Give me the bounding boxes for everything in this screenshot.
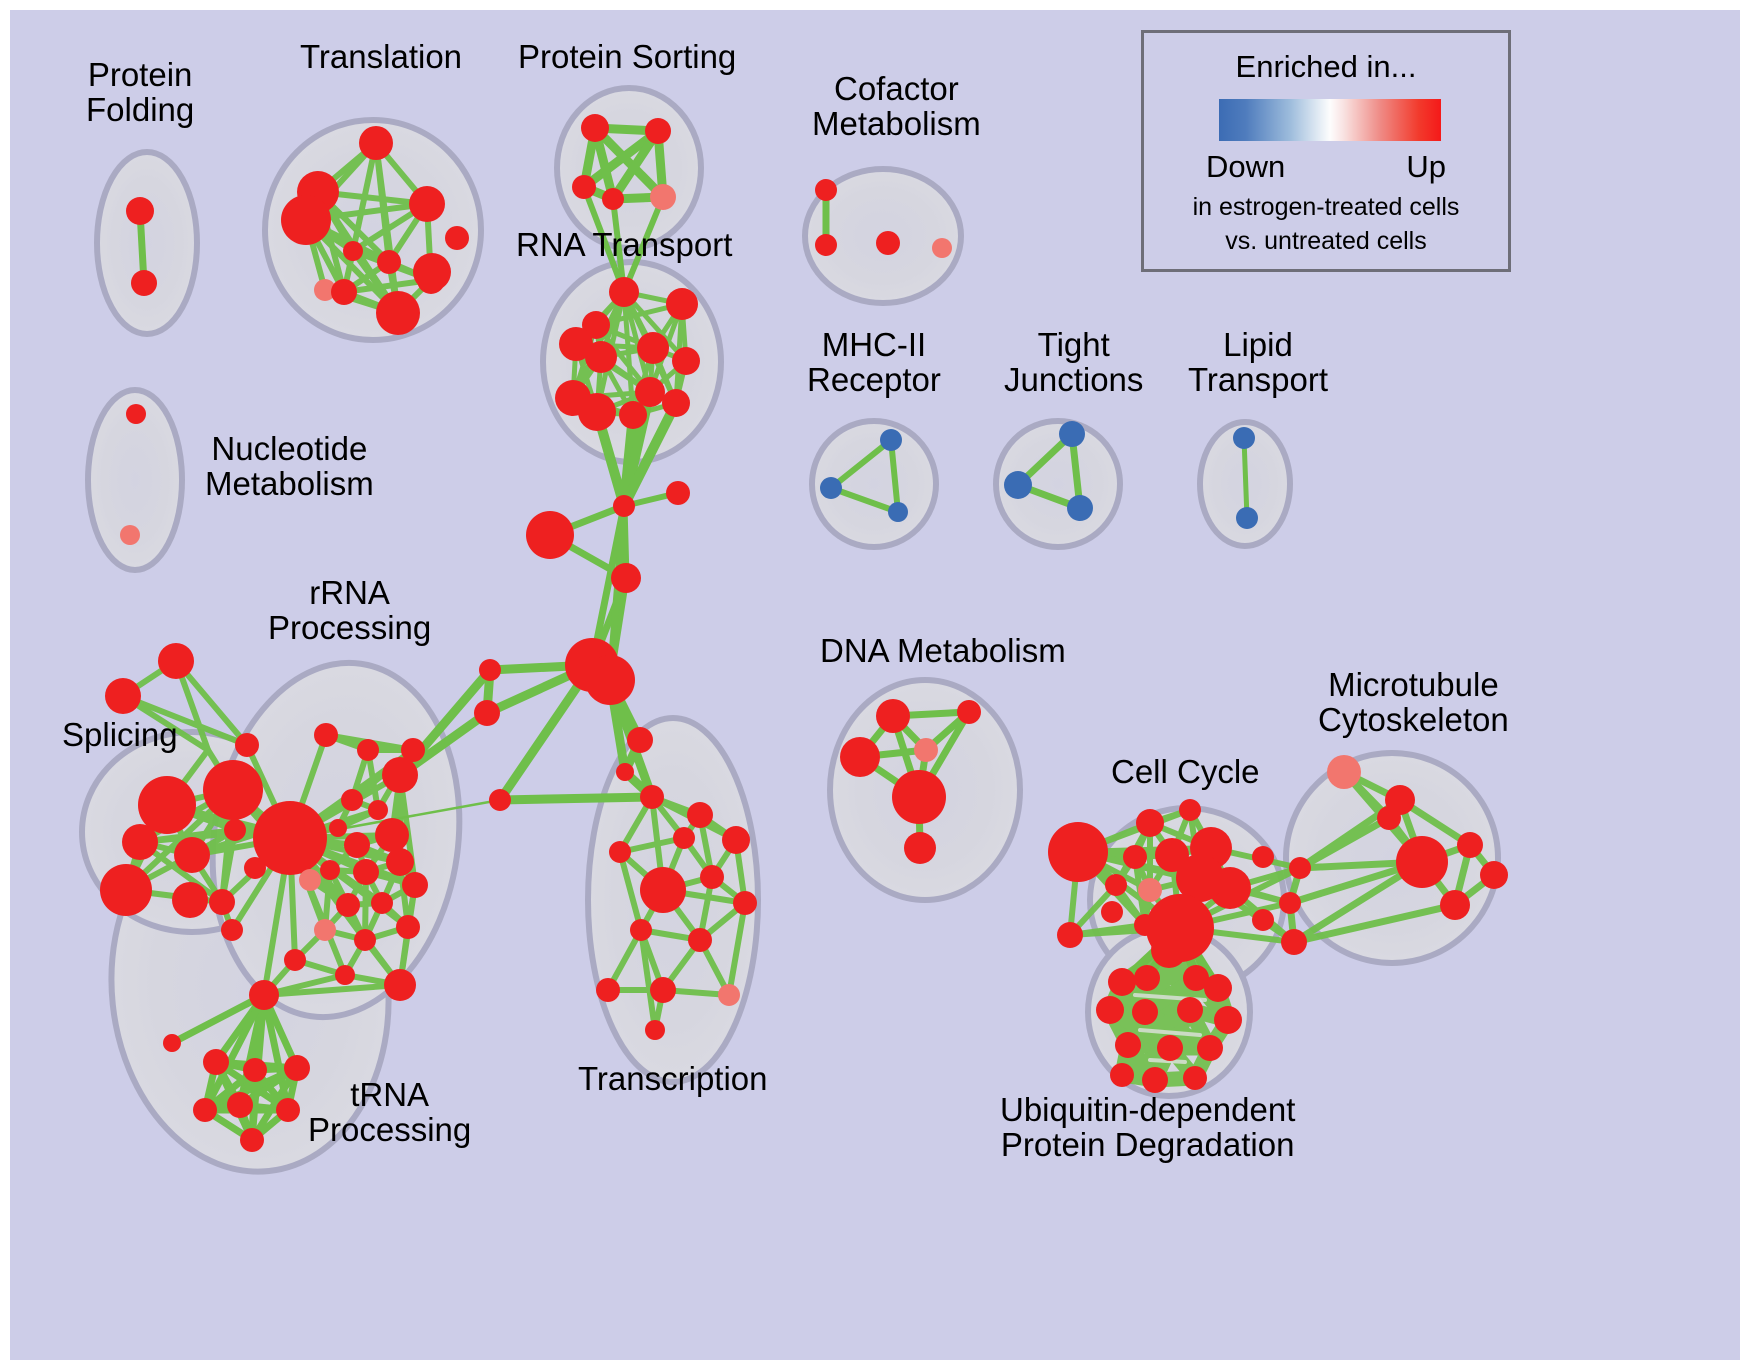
node	[619, 401, 647, 429]
label-dna-metabolism: DNA Metabolism	[820, 634, 1066, 669]
node	[314, 919, 336, 941]
node	[209, 889, 235, 915]
node	[687, 802, 713, 828]
node	[1327, 755, 1361, 789]
node	[1214, 1006, 1242, 1034]
node	[572, 175, 596, 199]
node	[1281, 929, 1307, 955]
node	[353, 859, 379, 885]
node	[376, 291, 420, 335]
node	[609, 841, 631, 863]
node	[203, 760, 263, 820]
node	[666, 288, 698, 320]
node	[1179, 799, 1201, 821]
node	[1067, 495, 1093, 521]
node	[627, 727, 653, 753]
label-lipid-transport: Lipid Transport	[1188, 328, 1328, 398]
node	[645, 118, 671, 144]
label-protein-folding: Protein Folding	[86, 58, 194, 128]
node	[613, 495, 635, 517]
node	[1136, 809, 1164, 837]
node	[126, 404, 146, 424]
node	[371, 892, 393, 914]
node	[1105, 874, 1127, 896]
node	[221, 919, 243, 941]
node	[596, 978, 620, 1002]
node	[122, 824, 158, 860]
node	[1096, 996, 1124, 1024]
node	[299, 869, 321, 891]
node	[932, 238, 952, 258]
legend-title: Enriched in...	[1144, 49, 1508, 85]
node	[581, 114, 609, 142]
node	[880, 429, 902, 451]
node	[253, 801, 327, 875]
node	[602, 188, 624, 210]
node	[526, 511, 574, 559]
node	[343, 241, 363, 261]
node	[650, 184, 676, 210]
node	[888, 502, 908, 522]
node	[341, 789, 363, 811]
node	[1004, 471, 1032, 499]
node	[1197, 1035, 1223, 1061]
node	[1057, 922, 1083, 948]
node	[336, 893, 360, 917]
node	[616, 763, 634, 781]
node	[718, 984, 740, 1006]
node	[1123, 845, 1147, 869]
node	[688, 928, 712, 952]
node	[1252, 846, 1274, 868]
node	[876, 699, 910, 733]
node	[344, 832, 370, 858]
node	[1480, 861, 1508, 889]
node	[320, 860, 340, 880]
node	[815, 179, 837, 201]
node	[1183, 1066, 1207, 1090]
label-transcription: Transcription	[578, 1062, 768, 1097]
node	[474, 700, 500, 726]
node	[904, 832, 936, 864]
node	[815, 234, 837, 256]
node	[193, 1098, 217, 1122]
node	[359, 126, 393, 160]
node	[489, 789, 511, 811]
node	[1204, 974, 1232, 1002]
node	[1289, 857, 1311, 879]
node	[276, 1098, 300, 1122]
node	[240, 1128, 264, 1152]
node	[1177, 997, 1203, 1023]
node	[672, 347, 700, 375]
label-nucleotide-metabolism: Nucleotide Metabolism	[205, 432, 374, 502]
node	[662, 389, 690, 417]
node	[1132, 999, 1158, 1025]
node	[1233, 427, 1255, 449]
node	[357, 739, 379, 761]
node	[402, 872, 428, 898]
node	[645, 1020, 665, 1040]
node	[1142, 1067, 1168, 1093]
legend-color-gradient-bar	[1219, 99, 1441, 141]
node	[479, 659, 501, 681]
label-rrna-processing: rRNA Processing	[268, 576, 431, 646]
node	[578, 393, 616, 431]
hull-protein-folding	[97, 152, 197, 334]
legend-high-label: Up	[1406, 149, 1446, 185]
label-tight-junctions: Tight Junctions	[1004, 328, 1143, 398]
node	[609, 277, 639, 307]
node	[382, 757, 418, 793]
node	[1457, 832, 1483, 858]
node	[892, 770, 946, 824]
label-protein-sorting: Protein Sorting	[518, 40, 736, 75]
label-translation: Translation	[300, 40, 462, 75]
node	[585, 655, 635, 705]
label-mhc-ii-receptor: MHC-II Receptor	[807, 328, 941, 398]
node	[396, 915, 420, 939]
legend-subtitle-line-2: vs. untreated cells	[1144, 227, 1508, 256]
node	[1110, 1063, 1134, 1087]
node	[1101, 901, 1123, 923]
node	[386, 848, 414, 876]
node	[722, 826, 750, 854]
node	[413, 253, 451, 291]
node	[640, 867, 686, 913]
node	[914, 738, 938, 762]
node	[876, 231, 900, 255]
node	[733, 891, 757, 915]
node	[100, 864, 152, 916]
label-splicing: Splicing	[62, 718, 178, 753]
node	[1236, 507, 1258, 529]
node	[700, 865, 724, 889]
node	[224, 819, 246, 841]
node	[335, 965, 355, 985]
node	[840, 737, 880, 777]
node	[666, 481, 690, 505]
label-cell-cycle: Cell Cycle	[1111, 755, 1260, 790]
node	[445, 226, 469, 250]
node	[249, 980, 279, 1010]
node	[331, 279, 357, 305]
node	[1108, 968, 1136, 996]
node	[409, 186, 445, 222]
node	[158, 643, 194, 679]
node	[243, 1058, 267, 1082]
node	[329, 819, 347, 837]
node	[1151, 932, 1187, 968]
node	[1115, 1032, 1141, 1058]
node	[640, 785, 664, 809]
figure-canvas: Protein Folding Translation Protein Sort…	[0, 0, 1750, 1360]
node	[1048, 822, 1108, 882]
node	[1059, 421, 1085, 447]
node	[637, 332, 669, 364]
node	[284, 1055, 310, 1081]
legend-box: Enriched in... Down Up in estrogen-treat…	[1141, 30, 1511, 272]
node	[820, 477, 842, 499]
node	[105, 678, 141, 714]
node	[131, 270, 157, 296]
node	[227, 1092, 253, 1118]
node	[126, 197, 154, 225]
node	[1157, 1035, 1183, 1061]
node	[284, 949, 306, 971]
node	[673, 827, 695, 849]
label-cofactor-metabolism: Cofactor Metabolism	[812, 72, 981, 142]
node	[611, 563, 641, 593]
node	[354, 929, 376, 951]
node	[203, 1049, 229, 1075]
node	[957, 700, 981, 724]
label-trna-processing: tRNA Processing	[308, 1078, 471, 1148]
node	[1138, 878, 1162, 902]
node	[120, 525, 140, 545]
node	[281, 195, 331, 245]
node	[174, 837, 210, 873]
node	[368, 800, 388, 820]
node	[650, 977, 676, 1003]
node	[585, 341, 617, 373]
node	[1252, 909, 1274, 931]
node	[375, 818, 409, 852]
node	[163, 1034, 181, 1052]
node	[1377, 806, 1401, 830]
node	[235, 733, 259, 757]
node	[630, 919, 652, 941]
node	[635, 377, 665, 407]
label-microtubule-cytoskeleton: Microtubule Cytoskeleton	[1318, 668, 1509, 738]
label-rna-transport: RNA Transport	[516, 228, 732, 263]
node	[384, 969, 416, 1001]
node	[172, 882, 208, 918]
node	[1279, 892, 1301, 914]
legend-subtitle-line-1: in estrogen-treated cells	[1144, 193, 1508, 222]
node	[1440, 890, 1470, 920]
legend-low-label: Down	[1206, 149, 1285, 185]
node	[1134, 965, 1160, 991]
node	[314, 723, 338, 747]
node	[1396, 836, 1448, 888]
node	[377, 250, 401, 274]
label-ubiquitin-protein-degradation: Ubiquitin-dependent Protein Degradation	[1000, 1093, 1295, 1163]
